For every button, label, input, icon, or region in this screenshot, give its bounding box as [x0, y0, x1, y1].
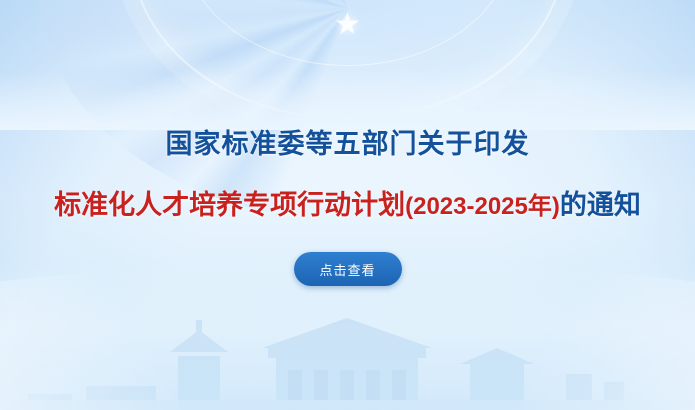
banner-title-tail: 的通知	[560, 190, 641, 220]
banner-title-line-2: 标准化人才培养专项行动计划(2023-2025年)的通知	[54, 183, 641, 222]
banner-title-highlight: 标准化人才培养专项行动计划	[54, 190, 405, 220]
banner-title-years: (2023-2025年)	[405, 193, 560, 220]
policy-banner: ★	[0, 0, 695, 410]
banner-title-line-1: 国家标准委等五部门关于印发	[166, 122, 530, 161]
banner-content: 国家标准委等五部门关于印发 标准化人才培养专项行动计划(2023-2025年)的…	[0, 0, 695, 410]
view-details-button[interactable]: 点击查看	[294, 252, 402, 286]
